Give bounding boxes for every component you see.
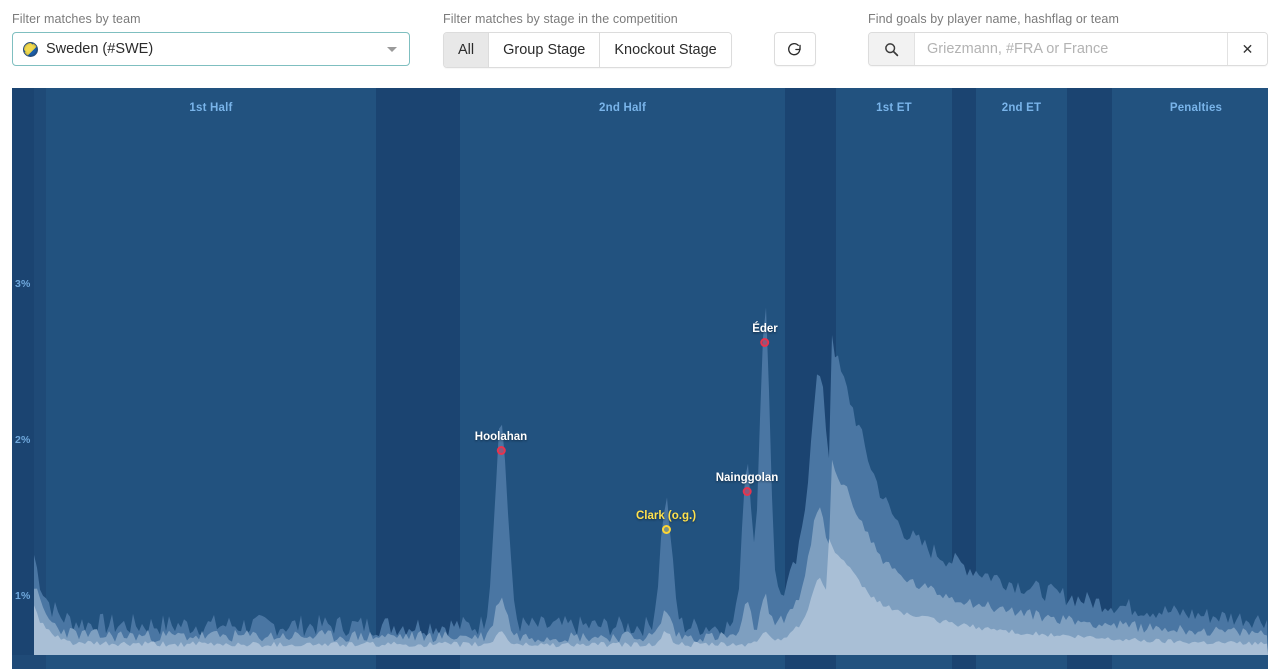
team-select-value: Sweden (#SWE) — [46, 41, 153, 57]
stage-option-all[interactable]: All — [444, 33, 489, 67]
search-button[interactable] — [869, 33, 915, 65]
search-input[interactable] — [915, 33, 1227, 65]
search-icon — [884, 42, 899, 57]
area-layer-2 — [34, 460, 1268, 655]
filter-toolbar: Filter matches by team Sweden (#SWE) Fil… — [0, 0, 1280, 86]
y-tick-1: 1% — [15, 590, 31, 602]
stage-filter-group: Filter matches by stage in the competiti… — [443, 12, 816, 68]
stage-filter-label: Filter matches by stage in the competiti… — [443, 12, 816, 26]
team-filter-group: Filter matches by team Sweden (#SWE) — [12, 12, 410, 66]
y-axis — [12, 88, 34, 655]
sweden-flag-icon — [23, 42, 38, 57]
tweet-volume-chart: 1st Half2nd Half1st ET2nd ETPenalties 3%… — [12, 88, 1268, 669]
area-series-plot — [34, 88, 1268, 669]
y-tick-3: 3% — [15, 278, 31, 290]
stage-segmented-control: All Group Stage Knockout Stage — [443, 32, 732, 68]
team-select[interactable]: Sweden (#SWE) — [12, 32, 410, 66]
chevron-down-icon[interactable] — [387, 47, 397, 52]
refresh-button[interactable] — [774, 32, 816, 66]
tweet-volume-dashboard: Filter matches by team Sweden (#SWE) Fil… — [0, 0, 1280, 669]
area-layer-1 — [34, 307, 1268, 655]
stage-option-knockout-stage[interactable]: Knockout Stage — [600, 33, 730, 67]
stage-option-group-stage[interactable]: Group Stage — [489, 33, 600, 67]
team-filter-label: Filter matches by team — [12, 12, 410, 26]
search-label: Find goals by player name, hashflag or t… — [868, 12, 1268, 26]
search-bar: ✕ — [868, 32, 1268, 66]
y-tick-2: 2% — [15, 434, 31, 446]
search-group: Find goals by player name, hashflag or t… — [868, 12, 1268, 66]
refresh-icon — [786, 41, 803, 58]
clear-search-button[interactable]: ✕ — [1227, 33, 1267, 65]
